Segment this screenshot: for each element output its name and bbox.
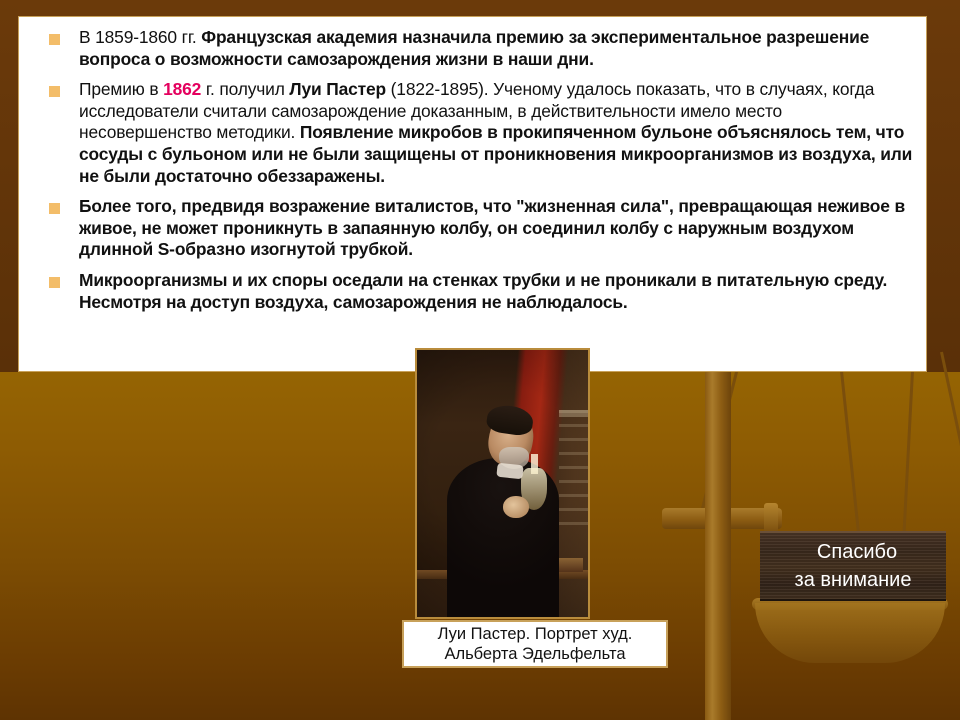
highlighted-year: 1862: [163, 79, 201, 99]
portrait-painting: [417, 350, 588, 617]
scale-string-3: [902, 352, 915, 552]
scale-pan: [755, 603, 945, 663]
scale-string-1: [699, 352, 743, 518]
caption-line-2: Альберта Эдельфельта: [444, 645, 625, 663]
thank-you-sign: Спасибо за внимание: [760, 531, 946, 601]
slide-left-border: [0, 0, 18, 372]
bold-text-run: Луи Пастер: [289, 79, 386, 99]
figure-hand: [503, 496, 529, 518]
slide-top-border: [0, 0, 960, 16]
scale-string-4: [940, 352, 960, 529]
pasteur-portrait-image: [415, 348, 590, 619]
text-run: В 1859-1860 гг.: [79, 27, 201, 47]
slide-right-border: [927, 0, 960, 372]
scale-beam-cap: [764, 503, 778, 533]
scale-post: [705, 330, 731, 720]
text-run: Премию в: [79, 79, 163, 99]
bullet-item-1: В 1859-1860 гг. Французская академия наз…: [33, 27, 914, 70]
laboratory-glassware: [559, 410, 589, 530]
figure-collar: [496, 463, 523, 480]
presentation-slide: В 1859-1860 гг. Французская академия наз…: [0, 0, 960, 720]
bold-text-run: Более того, предвидя возражение виталист…: [79, 196, 905, 259]
bullet-list: В 1859-1860 гг. Французская академия наз…: [33, 27, 914, 313]
scale-string-2: [838, 352, 861, 541]
thanks-line-2: за внимание: [795, 566, 912, 594]
caption-line-1: Луи Пастер. Портрет худ.: [438, 625, 633, 643]
bullet-item-2: Премию в 1862 г. получил Луи Пастер (182…: [33, 79, 914, 187]
content-panel: В 1859-1860 гг. Французская академия наз…: [18, 16, 927, 372]
portrait-caption: Луи Пастер. Портрет худ. Альберта Эдельф…: [402, 620, 668, 668]
text-run: г. получил: [201, 79, 289, 99]
bullet-item-4: Микроорганизмы и их споры оседали на сте…: [33, 270, 914, 313]
bold-text-run: Микроорганизмы и их споры оседали на сте…: [79, 270, 887, 312]
bullet-item-3: Более того, предвидя возражение виталист…: [33, 196, 914, 261]
scale-beam: [662, 508, 782, 529]
thanks-line-1: Спасибо: [809, 538, 897, 566]
